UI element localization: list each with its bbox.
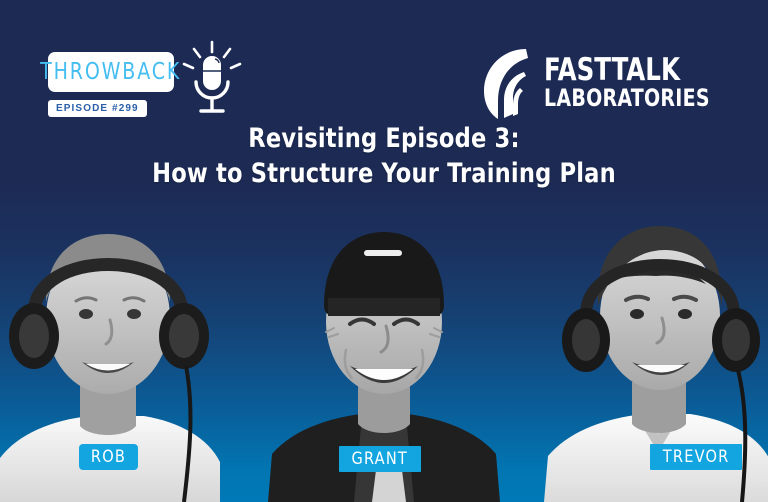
microphone-icon xyxy=(181,40,243,120)
name-label-rob: ROB xyxy=(91,447,126,467)
podcast-episode-card: THROWBACK EPISODE #299 xyxy=(0,0,768,502)
episode-number-badge: EPISODE #299 xyxy=(48,100,147,117)
title-line-2: How to Structure Your Training Plan xyxy=(27,157,741,192)
brand-line-1: FASTTALK xyxy=(544,55,710,85)
title-line-1: Revisiting Episode 3: xyxy=(27,122,741,157)
name-tag-grant: GRANT xyxy=(339,446,421,472)
throwback-label: THROWBACK xyxy=(40,59,181,85)
brand-wordmark: FASTTALK LABORATORIES xyxy=(544,55,732,111)
page-title: Revisiting Episode 3: How to Structure Y… xyxy=(0,122,768,192)
name-tag-trevor: TREVOR xyxy=(650,444,742,470)
brand-logo: FASTTALK LABORATORIES xyxy=(480,46,732,120)
episode-number-label: EPISODE #299 xyxy=(56,103,139,114)
name-label-grant: GRANT xyxy=(351,449,408,469)
throwback-badge: THROWBACK xyxy=(48,52,174,92)
name-tag-rob: ROB xyxy=(79,444,138,470)
name-label-trevor: TREVOR xyxy=(663,447,730,467)
fast-talk-swoosh-icon xyxy=(480,46,532,120)
brand-line-2: LABORATORIES xyxy=(544,87,710,111)
